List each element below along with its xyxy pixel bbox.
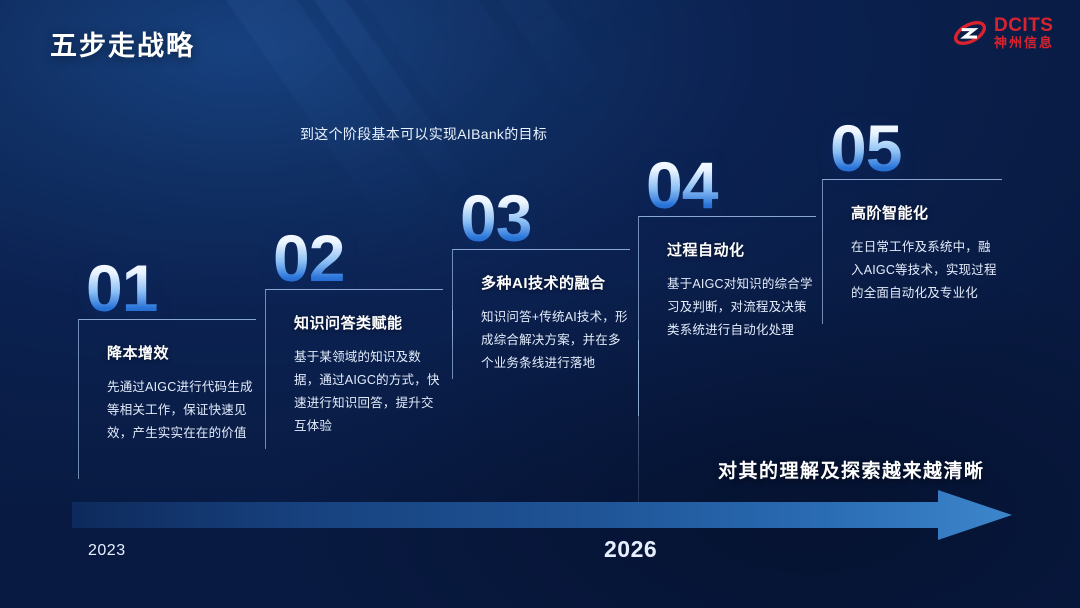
step-card-04[interactable]: 04 过程自动化 基于AIGC对知识的综合学习及判断，对流程及决策类系统进行自动…	[638, 155, 816, 416]
step-body: 先通过AIGC进行代码生成等相关工作，保证快速见效，产生实实在在的价值	[107, 376, 256, 445]
logo-text-cn: 神州信息	[994, 36, 1054, 50]
step-number: 04	[646, 155, 816, 216]
timeline-year-end: 2026	[604, 536, 657, 563]
page-title: 五步走战略	[50, 24, 195, 63]
step-title: 多种AI技术的融合	[481, 272, 630, 293]
step-card-05[interactable]: 05 高阶智能化 在日常工作及系统中，融入AIGC等技术，实现过程的全面自动化及…	[822, 118, 1002, 324]
dcits-swirl-icon	[953, 16, 987, 50]
step-bracket: 高阶智能化 在日常工作及系统中，融入AIGC等技术，实现过程的全面自动化及专业化	[822, 179, 1002, 324]
slide-root: 五步走战略 DCITS 神州信息 到这个阶段基本可以实现AIBank的目标 01…	[0, 0, 1080, 608]
step-number: 05	[830, 118, 1002, 179]
step-title: 高阶智能化	[851, 202, 1002, 223]
logo-text-en: DCITS	[994, 16, 1054, 36]
arrow-right-icon	[72, 490, 1012, 540]
step-number: 02	[273, 228, 443, 289]
step-bracket: 多种AI技术的融合 知识问答+传统AI技术，形成综合解决方案，并在多个业务条线进…	[452, 249, 630, 379]
step-title: 过程自动化	[667, 239, 816, 260]
step-number: 01	[86, 258, 256, 319]
step-bracket: 知识问答类赋能 基于某领域的知识及数据，通过AIGC的方式，快速进行知识回答，提…	[265, 289, 443, 449]
step-body: 知识问答+传统AI技术，形成综合解决方案，并在多个业务条线进行落地	[481, 306, 630, 375]
step-title: 知识问答类赋能	[294, 312, 443, 333]
step-card-01[interactable]: 01 降本增效 先通过AIGC进行代码生成等相关工作，保证快速见效，产生实实在在…	[78, 258, 256, 479]
step-card-03[interactable]: 03 多种AI技术的融合 知识问答+传统AI技术，形成综合解决方案，并在多个业务…	[452, 188, 630, 379]
step-card-02[interactable]: 02 知识问答类赋能 基于某领域的知识及数据，通过AIGC的方式，快速进行知识回…	[265, 228, 443, 449]
step-title: 降本增效	[107, 342, 256, 363]
step-number: 03	[460, 188, 630, 249]
brand-logo: DCITS 神州信息	[953, 16, 1054, 50]
timeline-arrow	[72, 490, 1012, 540]
timeline-year-start: 2023	[88, 542, 126, 560]
step-bracket: 降本增效 先通过AIGC进行代码生成等相关工作，保证快速见效，产生实实在在的价值	[78, 319, 256, 479]
step-body: 在日常工作及系统中，融入AIGC等技术，实现过程的全面自动化及专业化	[851, 236, 1002, 305]
step-body: 基于某领域的知识及数据，通过AIGC的方式，快速进行知识回答，提升交互体验	[294, 346, 443, 439]
step-bracket: 过程自动化 基于AIGC对知识的综合学习及判断，对流程及决策类系统进行自动化处理	[638, 216, 816, 416]
step-body: 基于AIGC对知识的综合学习及判断，对流程及决策类系统进行自动化处理	[667, 273, 816, 342]
stage-annotation: 到这个阶段基本可以实现AIBank的目标	[300, 124, 547, 144]
timeline-caption: 对其的理解及探索越来越清晰	[718, 456, 985, 483]
